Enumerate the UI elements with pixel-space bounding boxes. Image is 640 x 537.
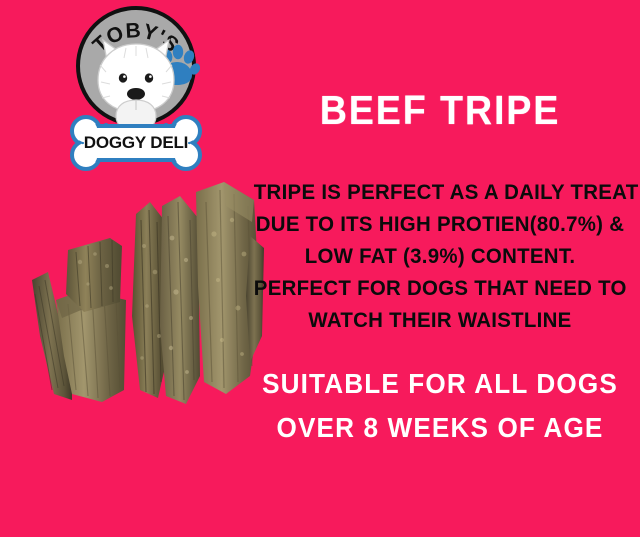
bone-banner: DOGGY DELI xyxy=(62,114,210,172)
product-photo-beef-tripe xyxy=(28,176,266,408)
brand-bottom-text: DOGGY DELI xyxy=(62,114,210,172)
tripe-strip xyxy=(160,196,200,404)
brand-logo: TOBY'S xyxy=(62,4,210,174)
suitability-block: SUITABLE FOR ALL DOGS OVER 8 WEEKS OF AG… xyxy=(244,362,636,450)
suitability-line: SUITABLE FOR ALL DOGS xyxy=(254,362,626,406)
description-line: DUE TO ITS HIGH PROTIEN(80.7%) & xyxy=(254,208,626,240)
description-line: WATCH THEIR WAISTLINE xyxy=(254,304,626,336)
suitability-line: OVER 8 WEEKS OF AGE xyxy=(254,406,626,450)
description-line: PERFECT FOR DOGS THAT NEED TO xyxy=(254,272,626,304)
description-line: LOW FAT (3.9%) CONTENT. xyxy=(254,240,626,272)
poster-text-column: BEEF TRIPE TRIPE IS PERFECT AS A DAILY T… xyxy=(244,0,636,537)
description-line: TRIPE IS PERFECT AS A DAILY TREAT xyxy=(254,176,626,208)
tripe-strip xyxy=(66,238,122,312)
page-title: BEEF TRIPE xyxy=(260,88,621,132)
poster-canvas: TOBY'S xyxy=(0,0,640,537)
description-block: TRIPE IS PERFECT AS A DAILY TREAT DUE TO… xyxy=(244,176,636,336)
